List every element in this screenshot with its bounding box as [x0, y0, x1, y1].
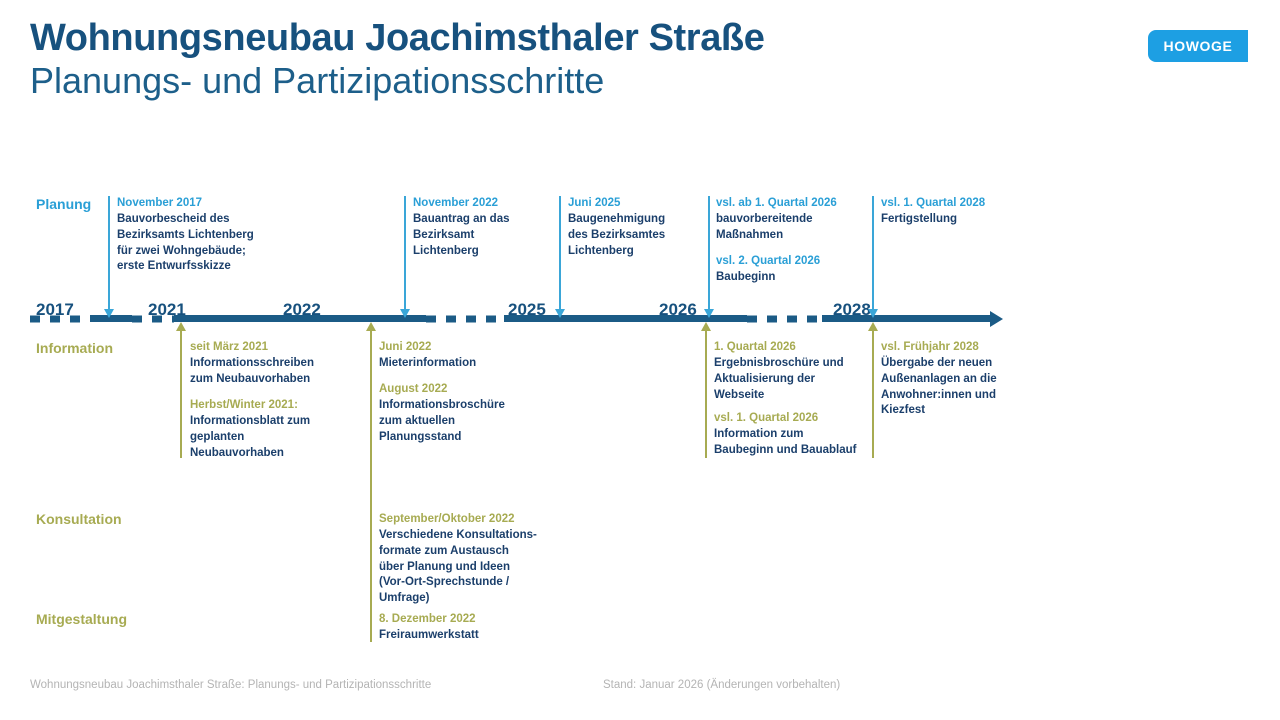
information-entry-3: August 2022 Informationsbroschüre zum ak… — [379, 382, 559, 445]
entry-date: November 2022 — [413, 196, 563, 212]
information-stem-2021 — [180, 330, 182, 458]
entry-text: Fertigstellung — [881, 212, 1041, 228]
planung-entry-5: vsl. 1. Quartal 2028 Fertigstellung — [881, 196, 1041, 228]
entry-date: September/Oktober 2022 — [379, 512, 564, 528]
konsultation-entry-0: September/Oktober 2022 Verschiedene Kons… — [379, 512, 564, 607]
planung-entry-0: November 2017 Bauvorbescheid des Bezirks… — [117, 196, 297, 275]
information-stem-2022 — [370, 330, 372, 642]
information-stem-2026 — [705, 330, 707, 458]
planung-entry-2: Juni 2025 Baugenehmigung des Bezirksamte… — [568, 196, 713, 259]
planung-entry-1: November 2022 Bauantrag an das Bezirksam… — [413, 196, 563, 259]
entry-date: Herbst/Winter 2021: — [190, 398, 365, 414]
entry-text: Baugenehmigung des Bezirksamtes Lichtenb… — [568, 212, 713, 260]
axis-dashes-2026-2028 — [747, 315, 822, 323]
entry-date: vsl. 2. Quartal 2026 — [716, 254, 876, 270]
information-entry-5: vsl. 1. Quartal 2026 Information zum Bau… — [714, 411, 874, 459]
year-label-2026: 2026 — [659, 300, 697, 320]
information-entry-4: 1. Quartal 2026 Ergebnisbroschüre und Ak… — [714, 340, 874, 403]
entry-text: Bauantrag an das Bezirksamt Lichtenberg — [413, 212, 563, 260]
row-label-mitgestaltung: Mitgestaltung — [36, 611, 127, 627]
entry-text: Verschiedene Konsultations- formate zum … — [379, 528, 564, 607]
entry-text: Freiraumwerkstatt — [379, 628, 564, 644]
entry-date: 8. Dezember 2022 — [379, 612, 564, 628]
year-label-2025: 2025 — [508, 300, 546, 320]
axis-arrow-head — [990, 311, 1003, 327]
entry-date: Juni 2025 — [568, 196, 713, 212]
planung-entry-4: vsl. 2. Quartal 2026 Baubeginn — [716, 254, 876, 286]
entry-text: Übergabe der neuen Außenanlagen an die A… — [881, 356, 1041, 419]
entry-date: August 2022 — [379, 382, 559, 398]
planung-stem-2022 — [404, 196, 406, 310]
row-label-planung: Planung — [36, 196, 91, 212]
year-label-2021: 2021 — [148, 300, 186, 320]
axis-dashes-2022-2025 — [426, 315, 504, 323]
entry-text: Informationsblatt zum geplanten Neubauvo… — [190, 414, 365, 462]
planung-stem-2017 — [108, 196, 110, 310]
entry-date: November 2017 — [117, 196, 297, 212]
information-entry-1: Herbst/Winter 2021: Informationsblatt zu… — [190, 398, 365, 461]
entry-date: 1. Quartal 2026 — [714, 340, 874, 356]
entry-text: Informationsbroschüre zum aktuellen Plan… — [379, 398, 559, 446]
entry-text: bauvorbereitende Maßnahmen — [716, 212, 876, 244]
timeline-diagram: 2017 2021 2022 2025 2026 2028 Planung In… — [0, 0, 1280, 720]
entry-date: vsl. 1. Quartal 2028 — [881, 196, 1041, 212]
entry-date: seit März 2021 — [190, 340, 365, 356]
information-entry-0: seit März 2021 Informationsschreiben zum… — [190, 340, 365, 388]
entry-date: vsl. ab 1. Quartal 2026 — [716, 196, 876, 212]
entry-text: Informationsschreiben zum Neubauvorhaben — [190, 356, 365, 388]
entry-date: Juni 2022 — [379, 340, 559, 356]
year-label-2028: 2028 — [833, 300, 871, 320]
year-label-2022: 2022 — [283, 300, 321, 320]
planung-entry-3: vsl. ab 1. Quartal 2026 bauvorbereitende… — [716, 196, 876, 244]
footer-right-text: Stand: Januar 2026 (Änderungen vorbehalt… — [603, 679, 840, 691]
year-label-2017: 2017 — [36, 300, 74, 320]
mitgestaltung-entry-0: 8. Dezember 2022 Freiraumwerkstatt — [379, 612, 564, 644]
information-entry-2: Juni 2022 Mieterinformation — [379, 340, 559, 372]
row-label-information: Information — [36, 340, 113, 356]
entry-text: Baubeginn — [716, 270, 876, 286]
footer-left-text: Wohnungsneubau Joachimsthaler Straße: Pl… — [30, 679, 431, 691]
entry-date: vsl. Frühjahr 2028 — [881, 340, 1041, 356]
entry-text: Information zum Baubeginn und Bauablauf — [714, 427, 874, 459]
entry-text: Ergebnisbroschüre und Aktualisierung der… — [714, 356, 874, 404]
information-entry-6: vsl. Frühjahr 2028 Übergabe der neuen Au… — [881, 340, 1041, 419]
row-label-konsultation: Konsultation — [36, 511, 122, 527]
entry-date: vsl. 1. Quartal 2026 — [714, 411, 874, 427]
entry-text: Mieterinformation — [379, 356, 559, 372]
entry-text: Bauvorbescheid des Bezirksamts Lichtenbe… — [117, 212, 297, 275]
